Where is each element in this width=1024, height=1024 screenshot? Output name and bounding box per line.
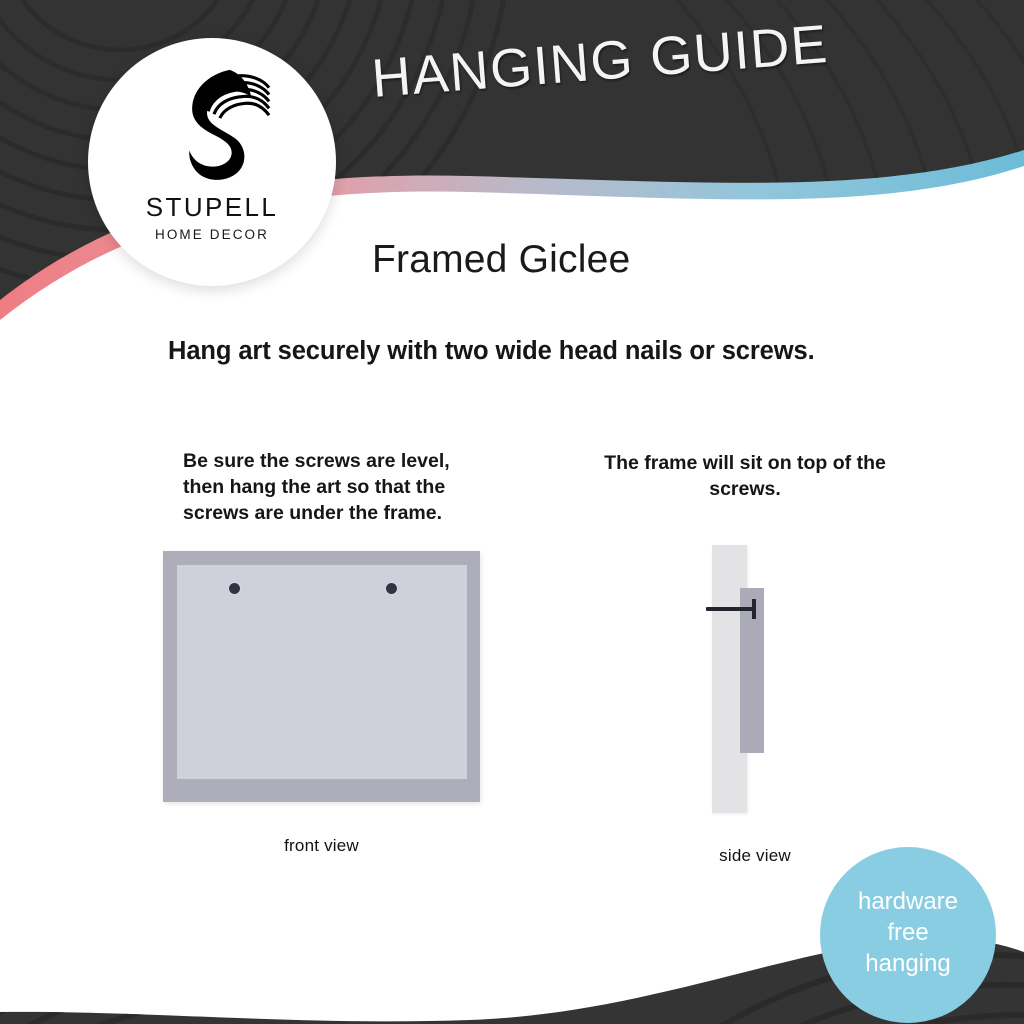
- side-view-label: side view: [665, 846, 845, 866]
- stupell-swoosh-logo-icon: [153, 64, 271, 186]
- badge-line-2: free: [887, 917, 928, 948]
- side-view-caption: The frame will sit on top of the screws.: [600, 450, 890, 502]
- main-instruction-text: Hang art securely with two wide head nai…: [168, 337, 815, 366]
- brand-tagline: HOME DECOR: [155, 227, 269, 242]
- nail-shaft-icon: [706, 607, 754, 611]
- page-title: HANGING GUIDE: [370, 13, 831, 110]
- brand-name: STUPELL: [146, 192, 278, 223]
- screw-dot-right: [386, 583, 397, 594]
- screw-dot-left: [229, 583, 240, 594]
- side-view-diagram: [700, 545, 810, 813]
- hardware-free-hanging-badge: hardware free hanging: [820, 847, 996, 1023]
- front-view-diagram: [163, 551, 480, 802]
- nail-head-icon: [752, 599, 756, 619]
- badge-line-1: hardware: [858, 886, 958, 917]
- hanging-guide-page: STUPELL HOME DECOR HANGING GUIDE Framed …: [0, 0, 1024, 1024]
- brand-logo-badge: STUPELL HOME DECOR: [88, 38, 336, 286]
- front-view-mat-area: [177, 565, 467, 779]
- front-view-label: front view: [163, 836, 480, 856]
- product-type-heading: Framed Giclee: [372, 238, 630, 282]
- front-view-caption: Be sure the screws are level, then hang …: [183, 448, 483, 526]
- badge-line-3: hanging: [865, 948, 950, 979]
